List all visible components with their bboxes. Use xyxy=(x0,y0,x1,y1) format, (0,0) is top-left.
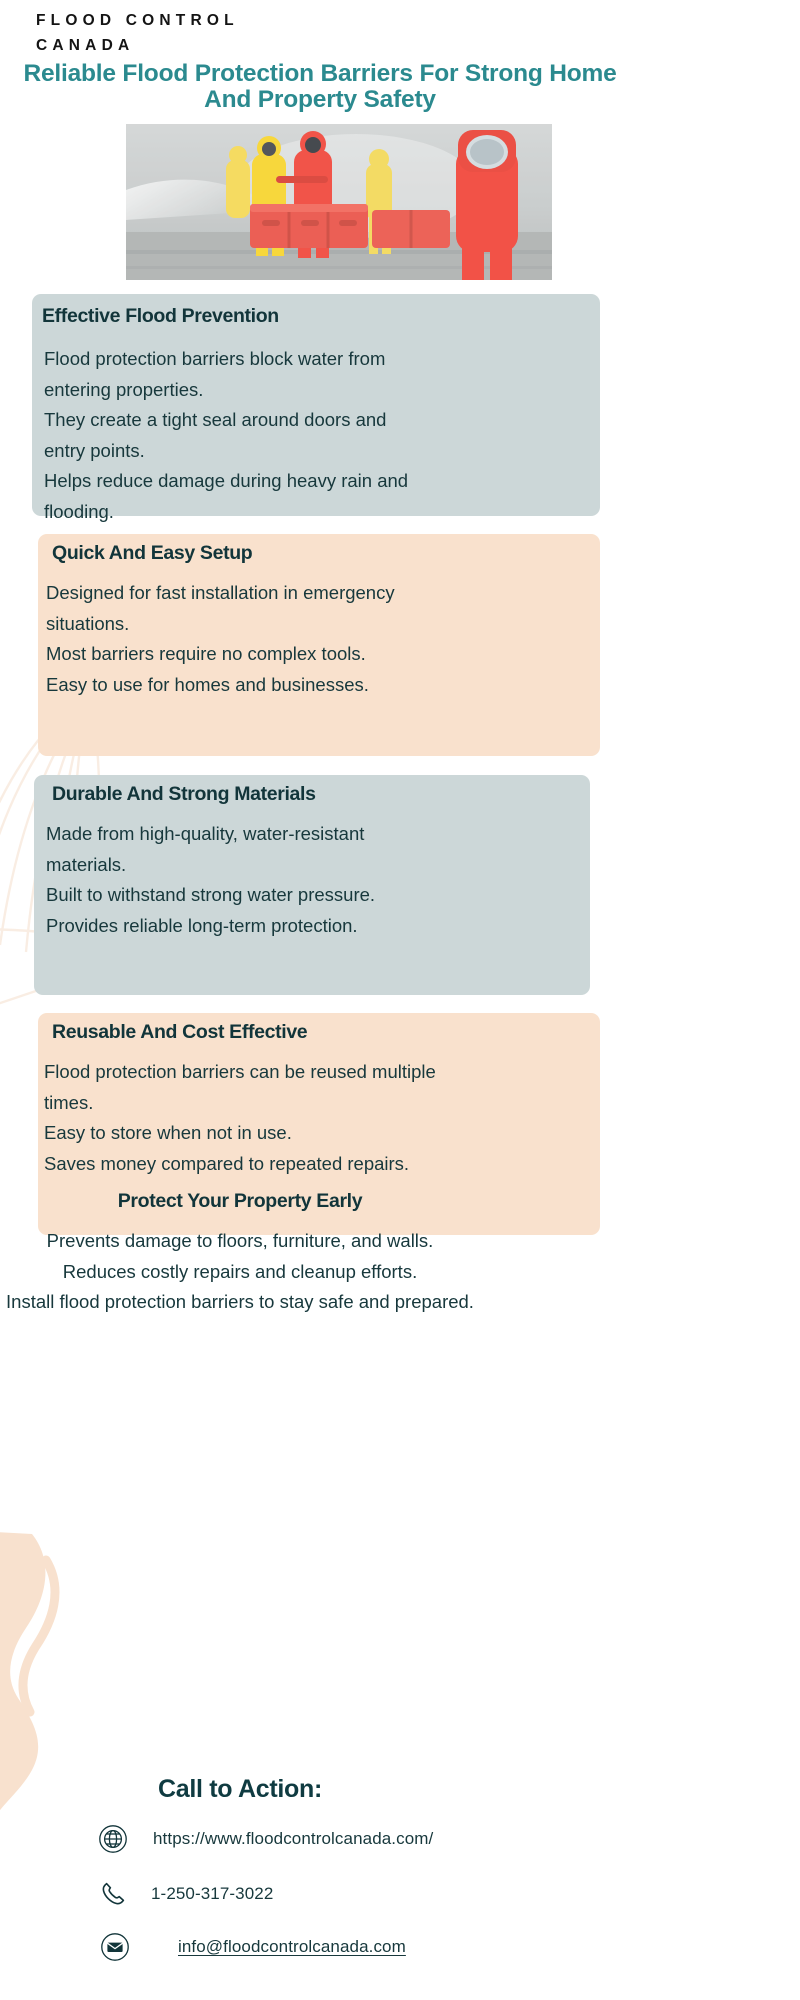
peach-blob-watermark xyxy=(0,1530,140,1860)
card-body-line: Flood protection barriers block water fr… xyxy=(44,344,408,375)
contact-row-phone[interactable]: 1-250-317-3022 xyxy=(96,1877,273,1911)
logo-line-1: FLOOD CONTROL xyxy=(36,8,239,33)
phone-number[interactable]: 1-250-317-3022 xyxy=(151,1884,273,1904)
envelope-icon xyxy=(98,1930,132,1964)
card-body-line: Designed for fast installation in emerge… xyxy=(46,578,395,609)
page-title: Reliable Flood Protection Barriers For S… xyxy=(0,61,800,113)
card-body-line: flooding. xyxy=(44,497,408,528)
card-body-line: Easy to use for homes and businesses. xyxy=(46,670,395,701)
card-body-3: Made from high-quality, water-resistant … xyxy=(46,819,375,941)
card-body-line: Flood protection barriers can be reused … xyxy=(44,1057,436,1088)
card-title-5: Protect Your Property Early xyxy=(0,1190,640,1213)
card-body-line: Made from high-quality, water-resistant xyxy=(46,819,375,850)
card-body-4: Flood protection barriers can be reused … xyxy=(44,1057,436,1179)
card-body-line: Prevents damage to floors, furniture, an… xyxy=(0,1226,640,1257)
card-body-line: Saves money compared to repeated repairs… xyxy=(44,1149,436,1180)
card-body-line: entering properties. xyxy=(44,375,408,406)
card-title-3: Durable And Strong Materials xyxy=(52,783,316,806)
globe-icon xyxy=(96,1822,130,1856)
email-address[interactable]: info@floodcontrolcanada.com xyxy=(178,1937,406,1957)
card-body-line: Easy to store when not in use. xyxy=(44,1118,436,1149)
card-body-line: They create a tight seal around doors an… xyxy=(44,405,408,436)
hero-image xyxy=(126,124,552,280)
card-body-2: Designed for fast installation in emerge… xyxy=(46,578,395,700)
brand-logo: FLOOD CONTROL CANADA xyxy=(36,8,239,58)
card-body-line: entry points. xyxy=(44,436,408,467)
contact-row-website[interactable]: https://www.floodcontrolcanada.com/ xyxy=(96,1822,433,1856)
card-body-1: Flood protection barriers block water fr… xyxy=(44,344,408,527)
card-body-line: materials. xyxy=(46,850,375,881)
website-url[interactable]: https://www.floodcontrolcanada.com/ xyxy=(153,1829,433,1849)
infographic-page: FLOOD CONTROL CANADA Reliable Flood Prot… xyxy=(0,0,800,2000)
card-title-1: Effective Flood Prevention xyxy=(42,305,279,328)
card-body-line: Built to withstand strong water pressure… xyxy=(46,880,375,911)
card-body-line: times. xyxy=(44,1088,436,1119)
phone-icon xyxy=(96,1877,130,1911)
card-body-5: Prevents damage to floors, furniture, an… xyxy=(0,1226,640,1318)
card-body-line: Provides reliable long-term protection. xyxy=(46,911,375,942)
contact-row-email[interactable]: info@floodcontrolcanada.com xyxy=(98,1930,406,1964)
logo-line-2: CANADA xyxy=(36,33,239,58)
card-body-line: Install flood protection barriers to sta… xyxy=(0,1287,640,1318)
card-body-line: Most barriers require no complex tools. xyxy=(46,639,395,670)
card-title-2: Quick And Easy Setup xyxy=(52,542,252,565)
card-body-line: situations. xyxy=(46,609,395,640)
cta-title: Call to Action: xyxy=(0,1775,640,1804)
page-title-line-2: And Property Safety xyxy=(0,87,800,113)
page-title-line-1: Reliable Flood Protection Barriers For S… xyxy=(0,61,800,87)
card-body-line: Reduces costly repairs and cleanup effor… xyxy=(0,1257,640,1288)
card-title-4: Reusable And Cost Effective xyxy=(52,1021,307,1044)
card-body-line: Helps reduce damage during heavy rain an… xyxy=(44,466,408,497)
hero-image-illustration xyxy=(126,124,552,280)
